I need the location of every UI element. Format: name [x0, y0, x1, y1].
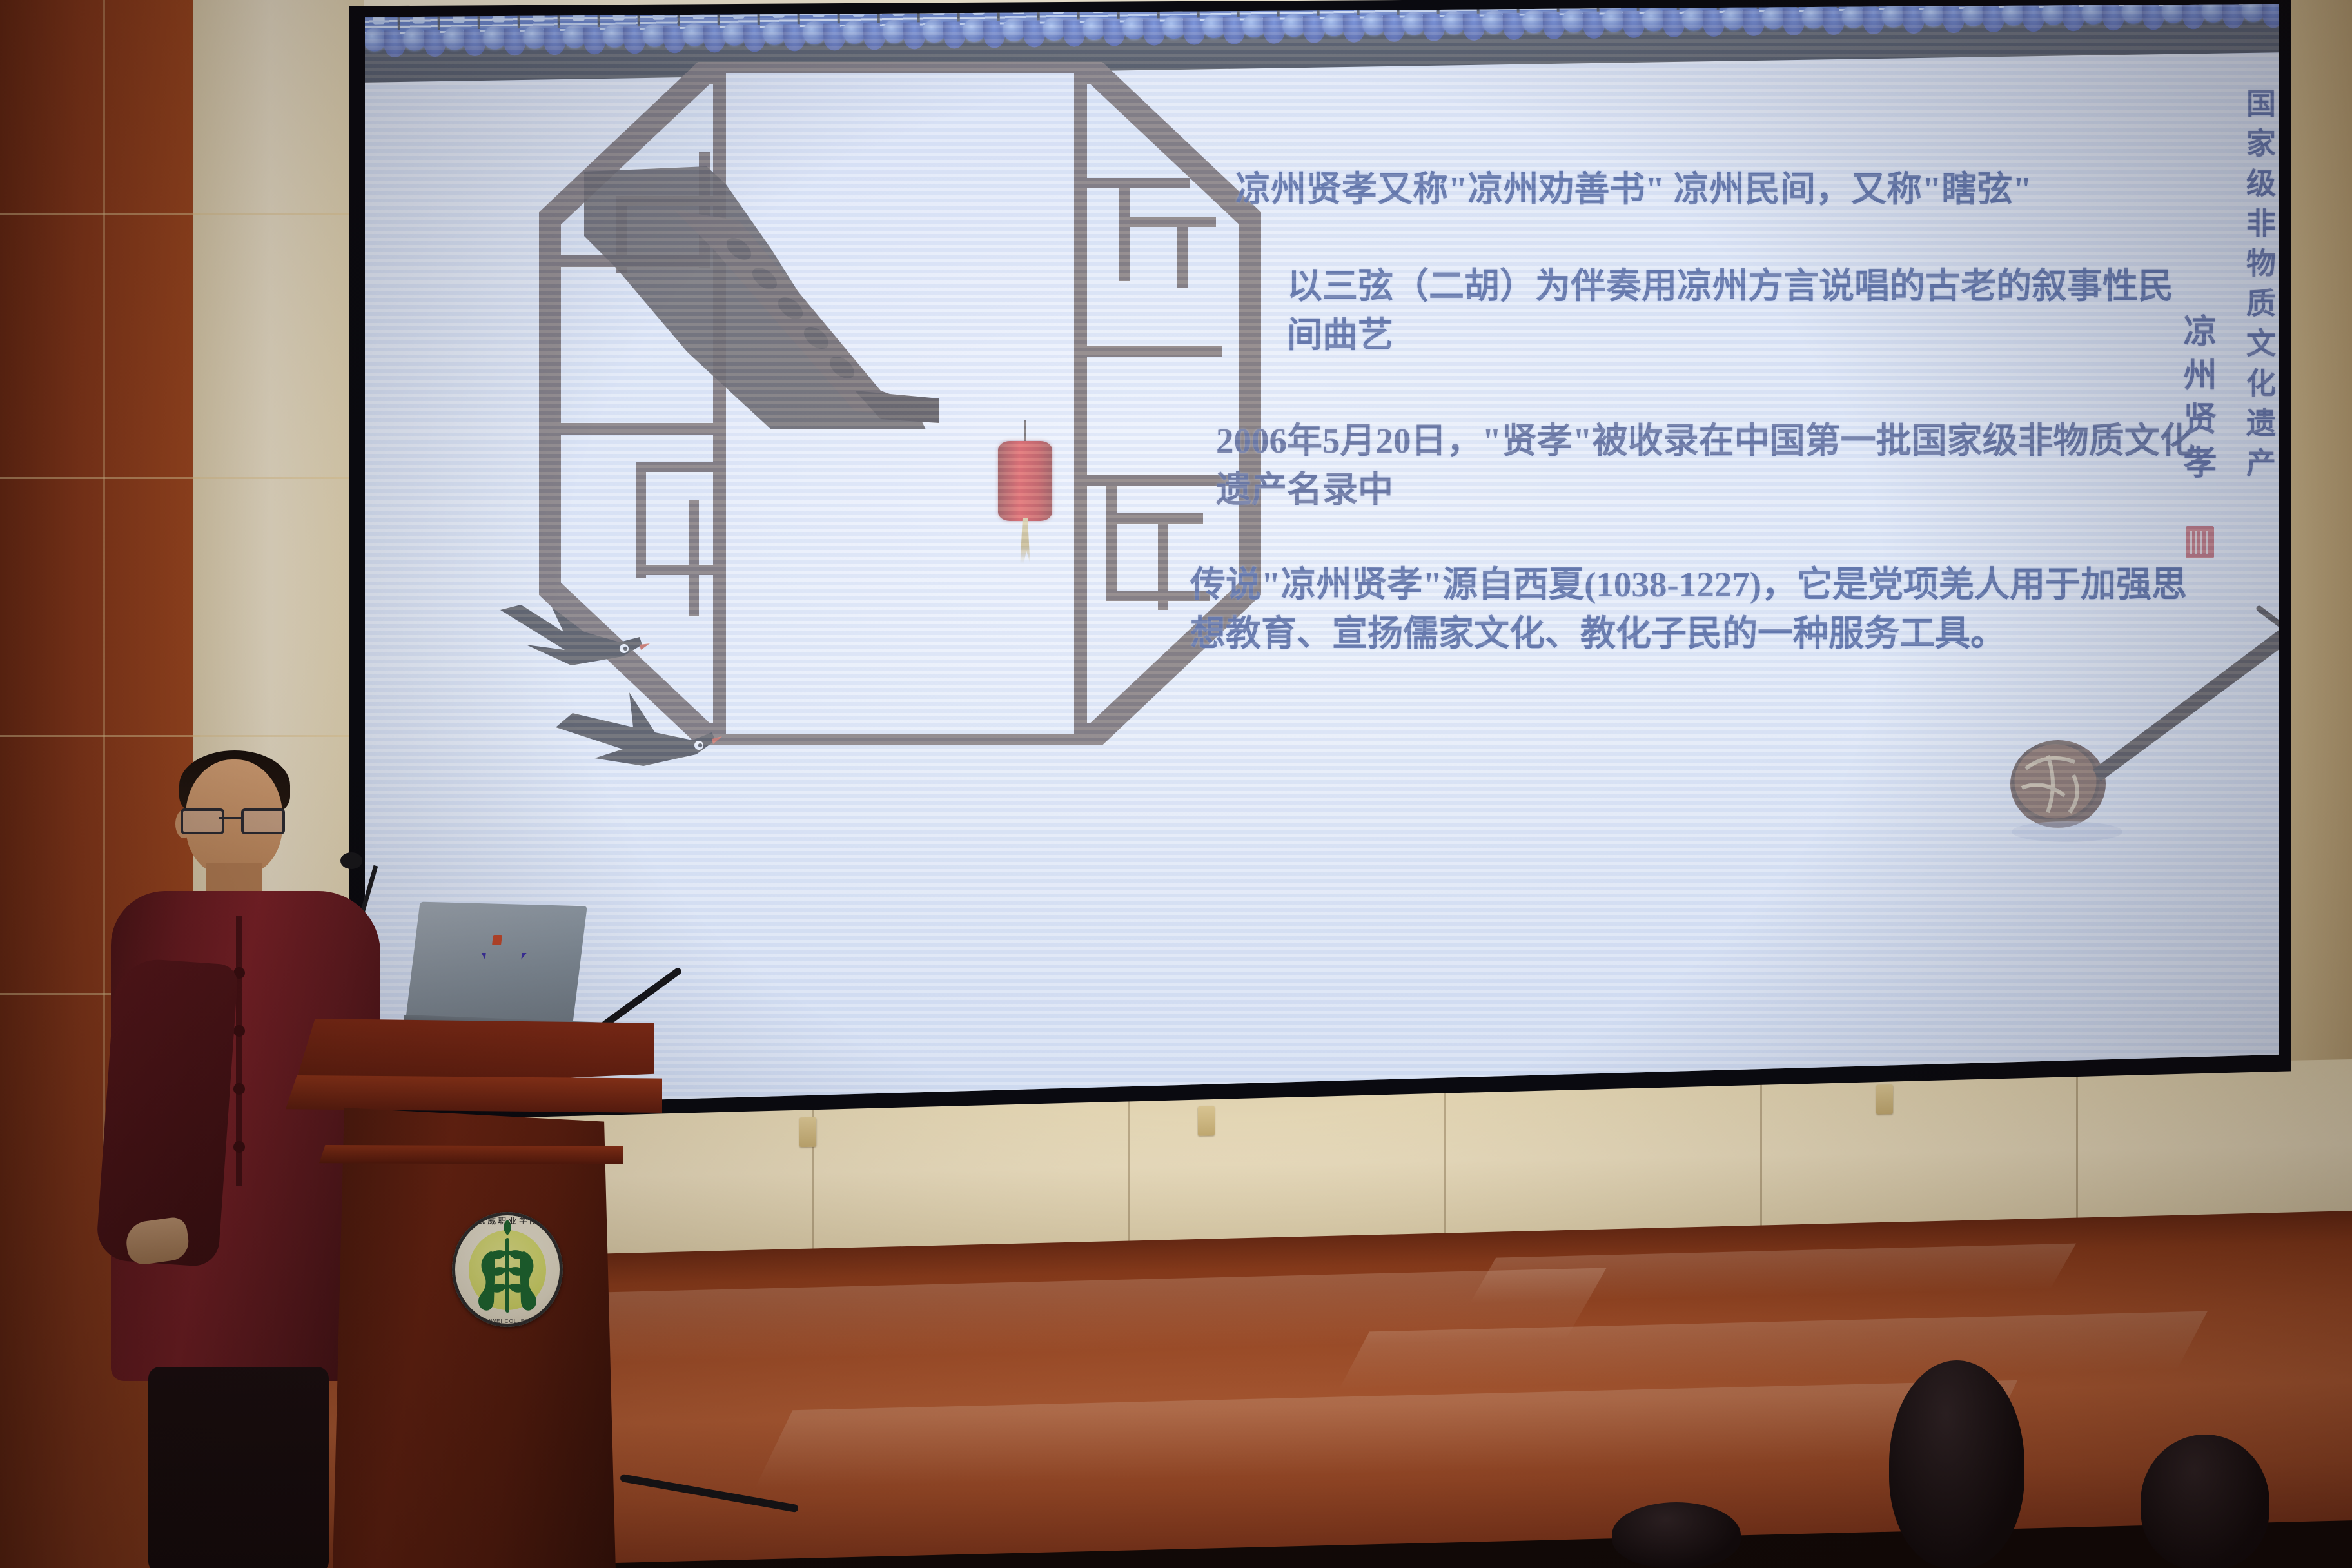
- college-crest-emblem: 武 威 职 业 学 院 WUWEI COLLEGE: [452, 1212, 563, 1327]
- swallow-bird-icon: [487, 603, 681, 700]
- wall-outlet: [799, 1117, 816, 1147]
- projection-screen: 凉州贤孝又称"凉州劝善书" 凉州民间，又称"瞎弦" 以三弦（二胡）为伴奏用凉州方…: [365, 4, 2278, 1108]
- sanxian-instrument-icon: [2003, 591, 2278, 848]
- podium-front-lip: [286, 1075, 662, 1113]
- jacket-button: [233, 1083, 245, 1095]
- audience-head: [2141, 1435, 2269, 1568]
- eyeglasses-icon: [179, 808, 289, 830]
- swallow-bird-icon: [547, 687, 747, 790]
- slide-paragraph-2: 以三弦（二胡）为伴奏用凉州方言说唱的古老的叙事性民间曲艺: [1287, 262, 2196, 360]
- red-seal-stamp-icon: [2186, 526, 2214, 558]
- vertical-calligraphy: 国家级非物质文化遗产 凉州贤孝: [2119, 75, 2278, 623]
- podium-molding: [319, 1145, 623, 1164]
- jacket-button: [233, 1025, 245, 1037]
- podium-body: [327, 1108, 616, 1568]
- jacket-button: [233, 1141, 245, 1153]
- wall-outlet: [1198, 1106, 1215, 1135]
- lecture-hall-scene: 凉州贤孝又称"凉州劝善书" 凉州民间，又称"瞎弦" 以三弦（二胡）为伴奏用凉州方…: [0, 0, 2352, 1568]
- lantern-cord: [1024, 420, 1026, 442]
- audience-head: [1612, 1502, 1741, 1568]
- svg-text:WUWEI COLLEGE: WUWEI COLLEGE: [481, 1318, 533, 1324]
- podium: 武 威 职 业 学 院 WUWEI COLLEGE: [293, 1019, 654, 1568]
- slide-paragraph-3: 2006年5月20日，"贤孝"被收录在中国第一批国家级非物质文化遗产名录中: [1216, 416, 2196, 514]
- laptop-badge-icon: [492, 935, 502, 945]
- svg-text:武 威 职 业 学 院: 武 威 职 业 学 院: [477, 1216, 538, 1226]
- calligraphy-main-column: 国家级非物质文化遗产: [2237, 75, 2278, 623]
- right-wall: [2282, 0, 2352, 1225]
- audience-head: [1889, 1360, 2024, 1568]
- slide-paragraph-1: 凉州贤孝又称"凉州劝善书" 凉州民间，又称"瞎弦": [1235, 165, 2196, 214]
- crest-figures-icon: 武 威 职 业 学 院 WUWEI COLLEGE: [452, 1212, 563, 1327]
- red-lantern-icon: [998, 441, 1052, 521]
- wall-outlet: [1876, 1084, 1893, 1114]
